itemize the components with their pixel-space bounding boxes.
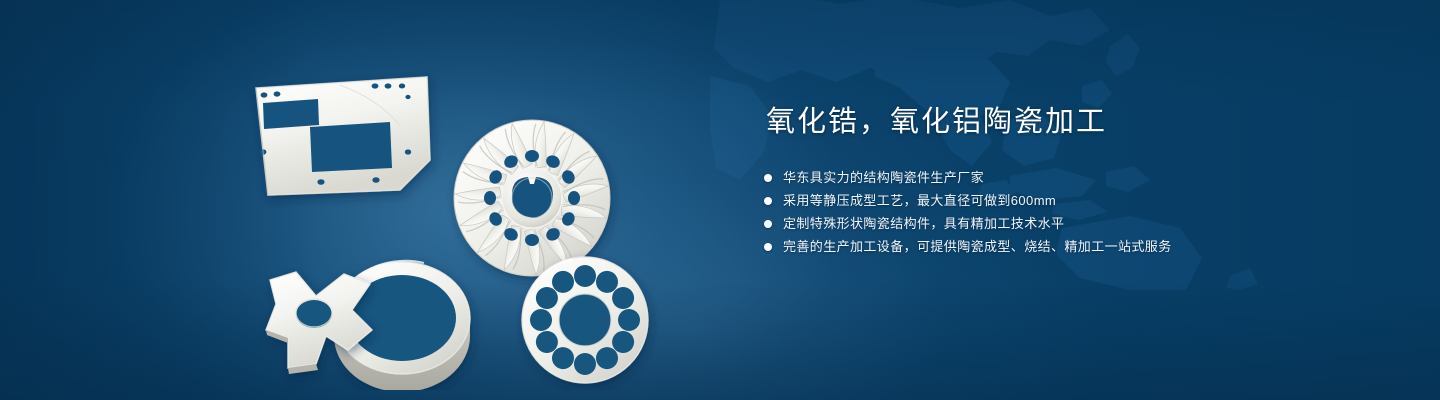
list-item: 华东具实力的结构陶瓷件生产厂家 bbox=[764, 166, 1384, 189]
bullet-dot-icon bbox=[764, 243, 772, 251]
feature-text: 完善的生产加工设备，可提供陶瓷成型、烧结、精加工一站式服务 bbox=[783, 235, 1172, 258]
feature-text: 采用等静压成型工艺，最大直径可做到600mm bbox=[783, 189, 1056, 212]
banner-copy: 氧化锆，氧化铝陶瓷加工 华东具实力的结构陶瓷件生产厂家 采用等静压成型工艺，最大… bbox=[764, 108, 1384, 258]
list-item: 定制特殊形状陶瓷结构件，具有精加工技术水平 bbox=[764, 212, 1384, 235]
ceramic-mounting-plate bbox=[256, 77, 430, 195]
bullet-dot-icon bbox=[764, 174, 772, 182]
hero-banner: 氧化锆，氧化铝陶瓷加工 华东具实力的结构陶瓷件生产厂家 采用等静压成型工艺，最大… bbox=[0, 0, 1440, 400]
banner-headline: 氧化锆，氧化铝陶瓷加工 bbox=[766, 108, 1384, 137]
feature-list: 华东具实力的结构陶瓷件生产厂家 采用等静压成型工艺，最大直径可做到600mm 定… bbox=[764, 166, 1384, 258]
ceramic-perforated-ring bbox=[522, 257, 648, 383]
list-item: 完善的生产加工设备，可提供陶瓷成型、烧结、精加工一站式服务 bbox=[764, 235, 1384, 258]
bullet-dot-icon bbox=[764, 220, 772, 228]
feature-text: 定制特殊形状陶瓷结构件，具有精加工技术水平 bbox=[783, 212, 1064, 235]
ceramic-impeller bbox=[454, 120, 610, 276]
ceramic-products-image bbox=[230, 30, 710, 390]
list-item: 采用等静压成型工艺，最大直径可做到600mm bbox=[764, 189, 1384, 212]
feature-text: 华东具实力的结构陶瓷件生产厂家 bbox=[783, 166, 984, 189]
bullet-dot-icon bbox=[764, 197, 772, 205]
